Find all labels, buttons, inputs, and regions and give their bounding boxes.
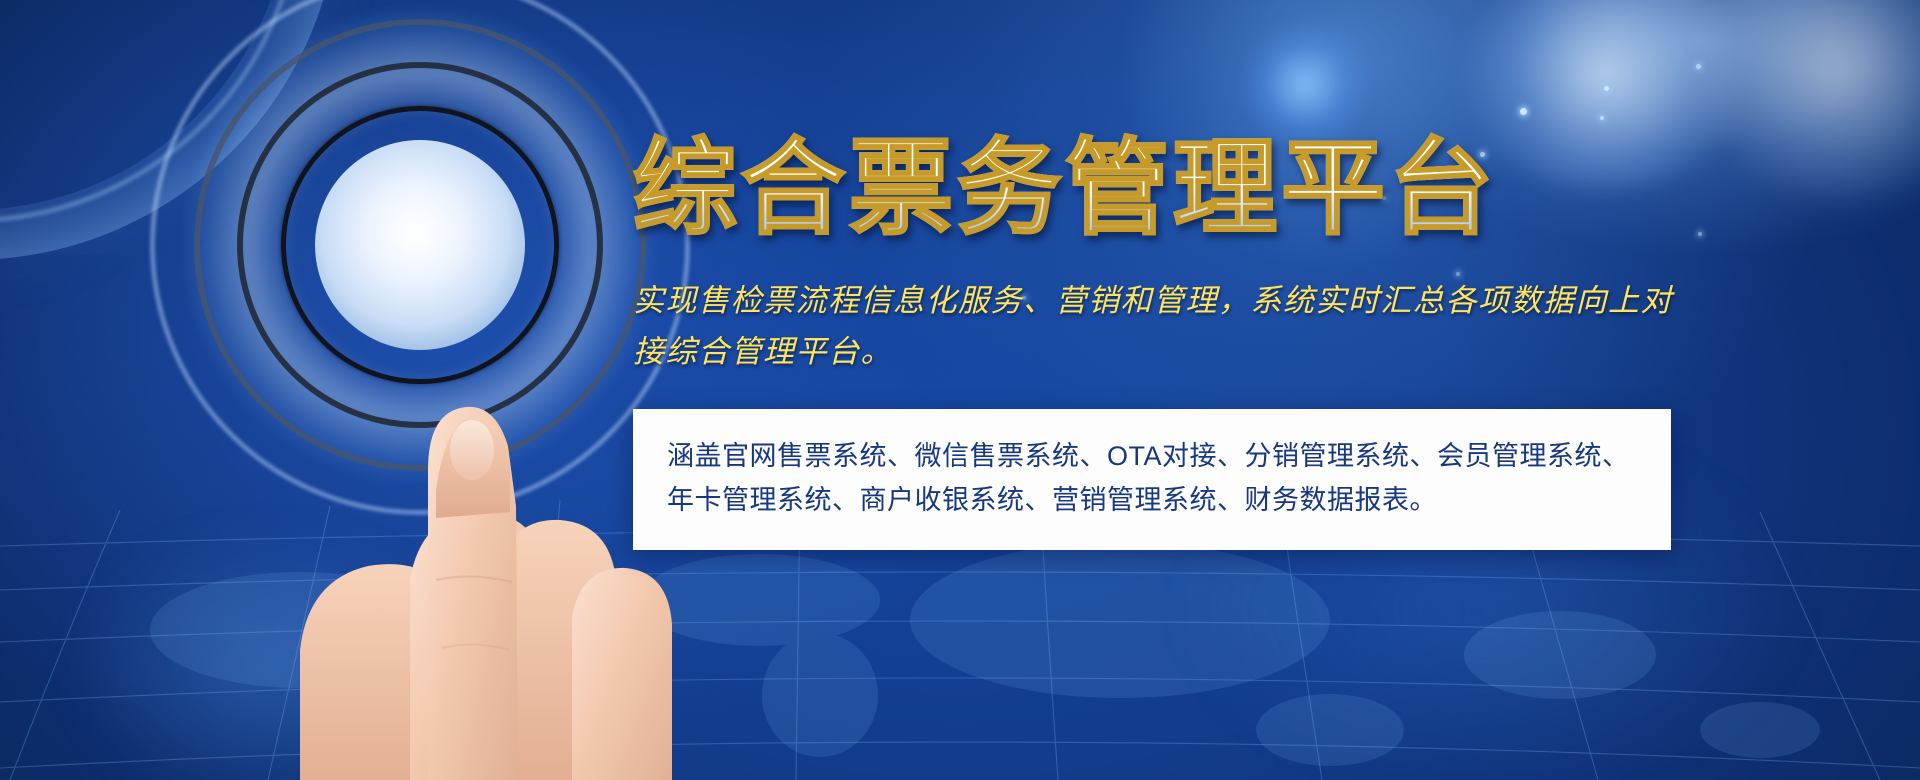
star-3 bbox=[1600, 116, 1604, 120]
banner-subtitle: 实现售检票流程信息化服务、营销和管理，系统实时汇总各项数据向上对接综合管理平台。 bbox=[633, 276, 1683, 376]
banner-content: 综合票务管理平台 综合票务管理平台 实现售检票流程信息化服务、营销和管理，系统实… bbox=[633, 130, 1693, 550]
star-2 bbox=[1604, 86, 1609, 91]
banner-subtitle-line-1: 实现售检票流程信息化服务、营销和管理，系统实时汇总各项数据向 bbox=[633, 283, 1608, 319]
banner-hero: 综合票务管理平台 综合票务管理平台 实现售检票流程信息化服务、营销和管理，系统实… bbox=[0, 0, 1920, 780]
star-1 bbox=[1520, 108, 1527, 115]
star-5 bbox=[1696, 64, 1701, 69]
page-title: 综合票务管理平台 bbox=[633, 130, 1693, 246]
star-7 bbox=[1698, 232, 1702, 236]
feature-panel: 涵盖官网售票系统、微信售票系统、OTA对接、分销管理系统、会员管理系统、年卡管理… bbox=[633, 409, 1671, 550]
feature-panel-text: 涵盖官网售票系统、微信售票系统、OTA对接、分销管理系统、会员管理系统、年卡管理… bbox=[667, 435, 1637, 522]
page-title-wrapper: 综合票务管理平台 综合票务管理平台 bbox=[633, 130, 1693, 246]
light-blob-c bbox=[1700, 0, 1920, 200]
pointing-hand-icon bbox=[260, 280, 690, 780]
